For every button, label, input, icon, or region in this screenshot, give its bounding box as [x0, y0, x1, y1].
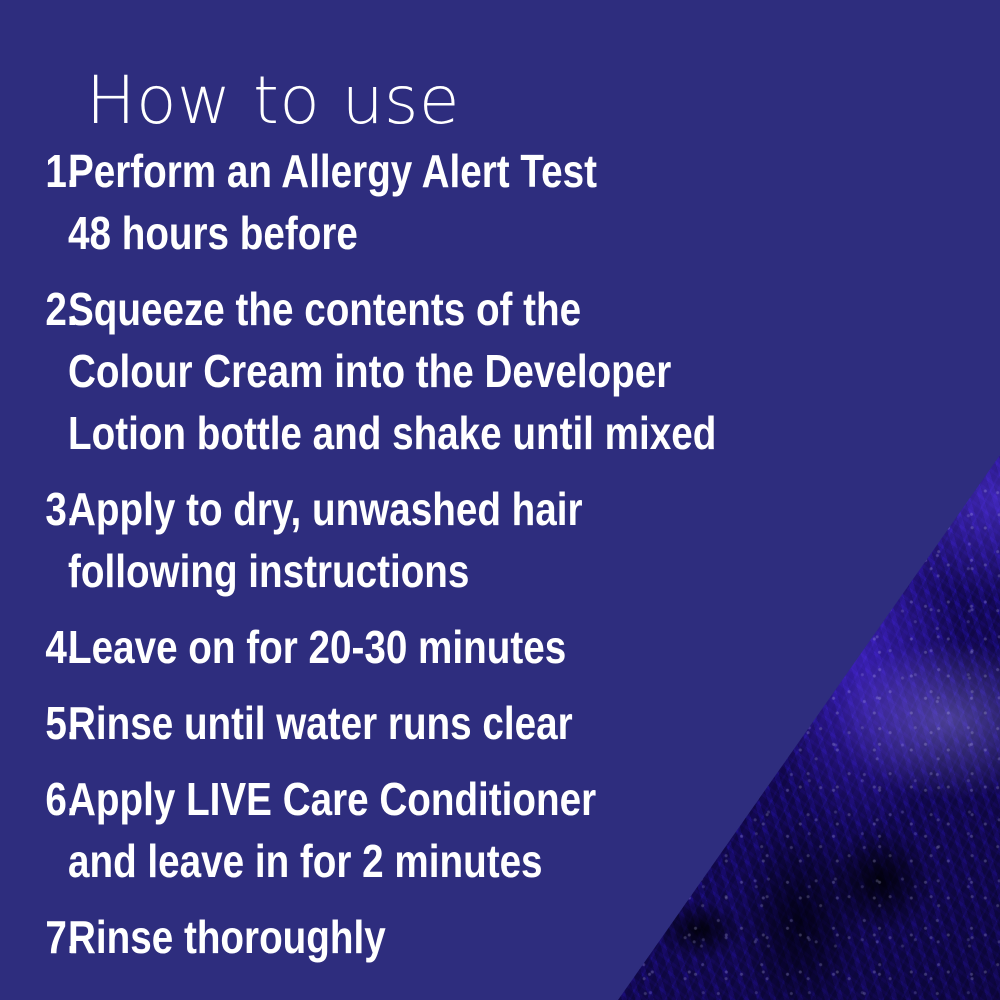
- step-item: 7.Rinse thoroughly: [0, 906, 960, 968]
- step-number: 1.: [0, 140, 57, 202]
- step-text-line: Perform an Allergy Alert Test: [68, 140, 817, 202]
- step-item: 2.Squeeze the contents of theColour Crea…: [0, 278, 960, 464]
- step-text: Perform an Allergy Alert Test48 hours be…: [68, 140, 817, 264]
- step-text: Apply to dry, unwashed hairfollowing ins…: [68, 478, 817, 602]
- step-text-line: Apply to dry, unwashed hair: [68, 478, 817, 540]
- step-text-line: Leave on for 20-30 minutes: [68, 616, 817, 678]
- step-item: 5.Rinse until water runs clear: [0, 692, 960, 754]
- step-text-line: following instructions: [68, 540, 817, 602]
- step-text-line: Rinse thoroughly: [68, 906, 817, 968]
- how-to-use-steps-list: 1.Perform an Allergy Alert Test48 hours …: [0, 140, 960, 982]
- step-text: Rinse thoroughly: [68, 906, 817, 968]
- step-text-line: Squeeze the contents of the: [68, 278, 817, 340]
- step-number: 6.: [0, 768, 57, 830]
- step-number: 4.: [0, 616, 57, 678]
- step-text-line: Apply LIVE Care Conditioner: [68, 768, 817, 830]
- step-number: 2.: [0, 278, 57, 340]
- step-item: 6.Apply LIVE Care Conditionerand leave i…: [0, 768, 960, 892]
- step-number: 3.: [0, 478, 57, 540]
- step-number: 5.: [0, 692, 57, 754]
- product-instructions-panel: How to use 1.Perform an Allergy Alert Te…: [0, 0, 1000, 1000]
- step-text-line: Lotion bottle and shake until mixed: [68, 402, 817, 464]
- step-text: Leave on for 20-30 minutes: [68, 616, 817, 678]
- step-text-line: Colour Cream into the Developer: [68, 340, 817, 402]
- step-item: 1.Perform an Allergy Alert Test48 hours …: [0, 140, 960, 264]
- page-title: How to use: [86, 65, 460, 136]
- step-item: 4.Leave on for 20-30 minutes: [0, 616, 960, 678]
- step-text: Squeeze the contents of theColour Cream …: [68, 278, 817, 464]
- step-number: 7.: [0, 906, 57, 968]
- step-text: Apply LIVE Care Conditionerand leave in …: [68, 768, 817, 892]
- step-item: 3.Apply to dry, unwashed hairfollowing i…: [0, 478, 960, 602]
- step-text: Rinse until water runs clear: [68, 692, 817, 754]
- step-text-line: 48 hours before: [68, 202, 817, 264]
- step-text-line: Rinse until water runs clear: [68, 692, 817, 754]
- step-text-line: and leave in for 2 minutes: [68, 830, 817, 892]
